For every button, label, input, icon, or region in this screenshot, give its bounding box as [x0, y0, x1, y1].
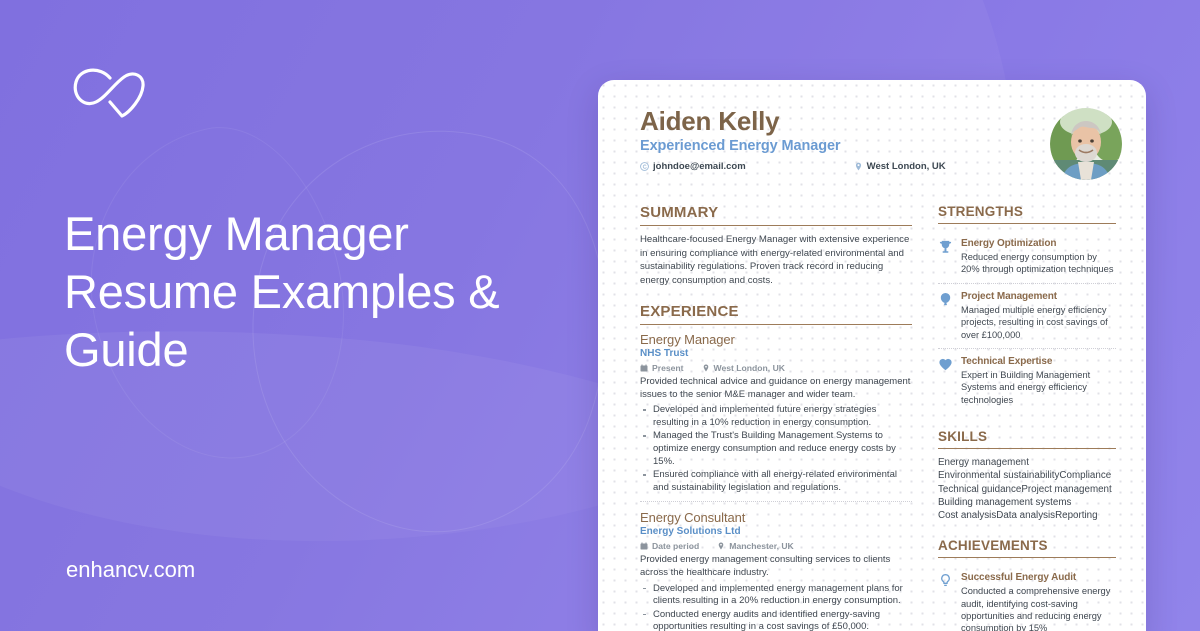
email-text: johndoe@email.com — [653, 161, 746, 172]
strengths-heading: STRENGTHS — [938, 204, 1116, 224]
job-bullets: Developed and implemented future energy … — [640, 404, 912, 494]
location-text: West London, UK — [867, 161, 946, 172]
site-url[interactable]: enhancv.com — [66, 557, 195, 583]
resume-preview-card[interactable]: Aiden Kelly Experienced Energy Manager j… — [598, 80, 1146, 631]
contact-email[interactable]: johndoe@email.com — [640, 161, 746, 172]
email-icon — [640, 162, 649, 171]
summary-heading: SUMMARY — [640, 204, 912, 226]
resume-side-column: STRENGTHS Energy Optimization Reduced en… — [938, 204, 1116, 631]
balloon-icon — [938, 291, 953, 341]
job-bullet: Developed and implemented future energy … — [640, 404, 912, 429]
enhancv-infinity-heart-logo-icon[interactable] — [70, 68, 148, 120]
job-description: Provided technical advice and guidance o… — [640, 376, 912, 401]
avatar — [1050, 108, 1122, 180]
job-meta: Present West London, UK — [640, 363, 912, 373]
section-skills: SKILLS Energy management Environmental s… — [938, 429, 1116, 522]
promo-panel: Energy Manager Resume Examples & Guide e… — [0, 0, 600, 631]
job-description: Provided energy management consulting se… — [640, 554, 912, 579]
section-experience: EXPERIENCE Energy Manager NHS Trust Pres… — [640, 303, 912, 631]
location-pin-icon — [702, 364, 710, 372]
skills-list: Energy management Environmental sustaina… — [938, 456, 1116, 522]
resume-header: Aiden Kelly Experienced Energy Manager j… — [640, 106, 1116, 196]
section-strengths: STRENGTHS Energy Optimization Reduced en… — [938, 204, 1116, 413]
resume-main-column: SUMMARY Healthcare-focused Energy Manage… — [640, 204, 912, 631]
promo-banner: Energy Manager Resume Examples & Guide e… — [0, 0, 1200, 631]
job-title: Energy Manager — [640, 332, 912, 347]
job-bullet: Conducted energy audits and identified e… — [640, 609, 912, 631]
achievement-title: Successful Energy Audit — [961, 572, 1116, 583]
experience-item: Energy Consultant Energy Solutions Ltd D… — [640, 501, 912, 631]
calendar-icon — [640, 364, 648, 372]
section-achievements: ACHIEVEMENTS Successful Energy Audit Con… — [938, 538, 1116, 631]
achievement-item: Successful Energy Audit Conducted a comp… — [938, 565, 1116, 631]
location-pin-icon — [717, 542, 725, 550]
job-title: Energy Consultant — [640, 510, 912, 525]
page-title: Energy Manager Resume Examples & Guide — [64, 205, 584, 379]
candidate-name: Aiden Kelly — [640, 106, 1116, 136]
heart-icon — [938, 356, 953, 406]
job-bullet: Ensured compliance with all energy-relat… — [640, 469, 912, 494]
contact-row: johndoe@email.com West London, UK — [640, 161, 1116, 172]
location-pin-icon — [854, 162, 863, 171]
job-date: Date period — [652, 541, 699, 551]
candidate-role: Experienced Energy Manager — [640, 138, 1116, 154]
strength-title: Energy Optimization — [961, 238, 1116, 249]
strength-title: Project Management — [961, 291, 1116, 302]
job-date: Present — [652, 363, 684, 373]
calendar-icon — [640, 542, 648, 550]
job-location: West London, UK — [714, 363, 785, 373]
job-company: Energy Solutions Ltd — [640, 526, 912, 537]
job-meta: Date period Manchester, UK — [640, 541, 912, 551]
strength-desc: Expert in Building Management Systems an… — [961, 369, 1116, 406]
summary-text: Healthcare-focused Energy Manager with e… — [640, 233, 912, 287]
experience-heading: EXPERIENCE — [640, 303, 912, 325]
job-bullet: Managed the Trust's Building Management … — [640, 430, 912, 468]
strength-item: Technical Expertise Expert in Building M… — [938, 348, 1116, 413]
strength-desc: Managed multiple energy efficiency proje… — [961, 304, 1116, 341]
section-summary: SUMMARY Healthcare-focused Energy Manage… — [640, 204, 912, 287]
achievement-desc: Conducted a comprehensive energy audit, … — [961, 585, 1116, 631]
skills-heading: SKILLS — [938, 429, 1116, 449]
trophy-icon — [938, 238, 953, 276]
achievements-heading: ACHIEVEMENTS — [938, 538, 1116, 558]
experience-item: Energy Manager NHS Trust Present West Lo… — [640, 332, 912, 501]
job-bullets: Developed and implemented energy managem… — [640, 583, 912, 631]
strength-title: Technical Expertise — [961, 356, 1116, 367]
strength-desc: Reduced energy consumption by 20% throug… — [961, 251, 1116, 276]
contact-location: West London, UK — [854, 161, 946, 172]
lightbulb-icon — [938, 572, 953, 631]
strength-item: Project Management Managed multiple ener… — [938, 283, 1116, 348]
job-location: Manchester, UK — [729, 541, 793, 551]
strength-item: Energy Optimization Reduced energy consu… — [938, 231, 1116, 283]
job-company: NHS Trust — [640, 348, 912, 359]
job-bullet: Developed and implemented energy managem… — [640, 583, 912, 608]
